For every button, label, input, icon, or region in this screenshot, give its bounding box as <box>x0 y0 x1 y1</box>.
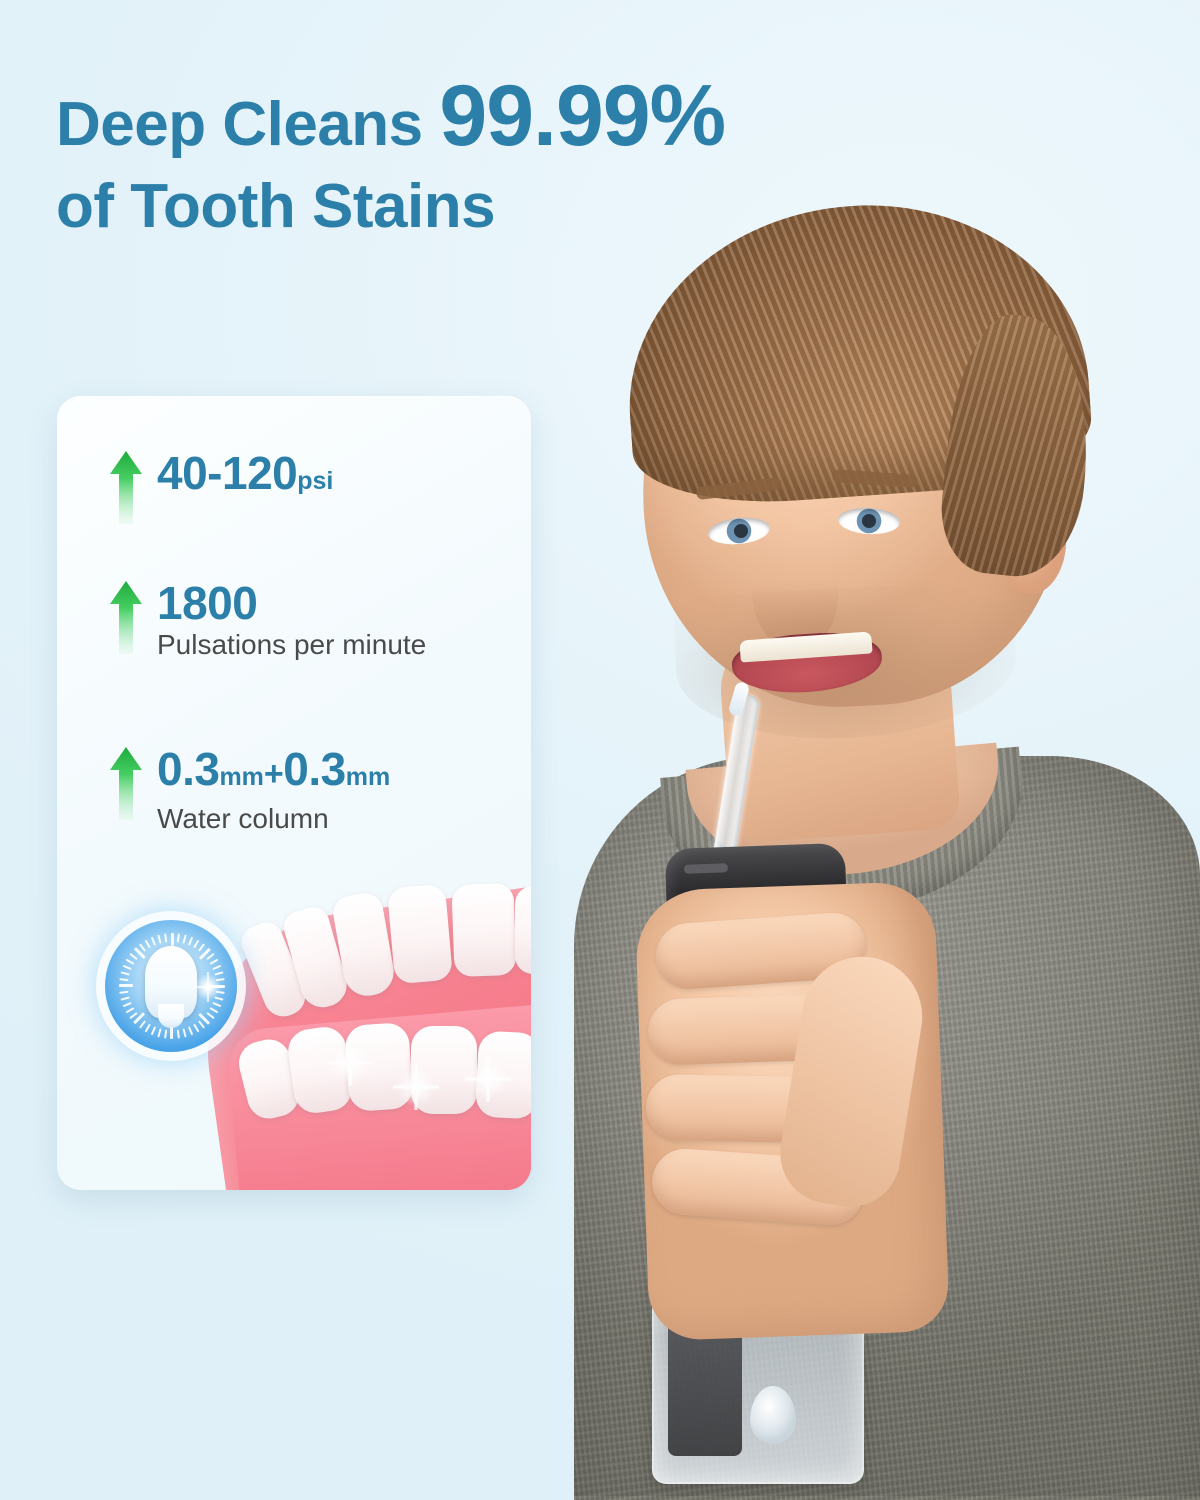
spec-row-pressure: 40-120psi <box>109 448 333 522</box>
photo-man-using-water-flosser <box>556 196 1200 1500</box>
badge-tick <box>193 1024 199 1033</box>
badge-tick <box>164 1029 167 1038</box>
up-arrow-icon <box>109 450 143 524</box>
tooth <box>475 1030 531 1119</box>
spec-value-b: 0.3 <box>283 743 345 795</box>
spec-caption: Water column <box>157 803 329 834</box>
headline-highlight: 99.99% <box>439 68 725 164</box>
spec-unit-a: mm <box>219 763 263 791</box>
badge-tick <box>177 933 180 942</box>
promo-image: Deep Cleans 99.99% of Tooth Stains 40-12… <box>0 0 1200 1500</box>
badge-tick <box>164 933 167 942</box>
spec-row-water-column: 0.3mm+0.3mm Water column <box>109 744 531 836</box>
badge-tick <box>206 1012 214 1019</box>
badge-tick <box>126 959 135 965</box>
spec-separator: + <box>264 755 283 793</box>
pupil-left <box>734 524 748 538</box>
badge-tick <box>177 1029 180 1038</box>
badge-tick <box>151 1026 156 1035</box>
spec-unit: psi <box>297 467 333 495</box>
badge-tick <box>198 943 205 951</box>
badge-tick <box>129 953 137 960</box>
badge-tick <box>171 933 174 947</box>
tooth <box>515 886 531 974</box>
headline-line-2: of Tooth Stains <box>56 175 956 239</box>
badge-tick <box>145 940 151 949</box>
badge-tick <box>119 984 133 987</box>
up-arrow-icon <box>109 580 143 654</box>
pupil-right <box>862 514 876 528</box>
flosser-power-button <box>684 863 728 874</box>
badge-tick <box>139 1020 146 1028</box>
badge-tick <box>210 1007 219 1013</box>
spec-row-pulsations: 1800 Pulsations per minute <box>109 578 531 662</box>
badge-tick <box>188 1026 193 1035</box>
spec-value-line: 0.3mm+0.3mm <box>157 743 390 795</box>
badge-tick <box>210 959 219 965</box>
badge-tick <box>123 965 132 970</box>
badge-tick <box>145 1024 151 1033</box>
spec-value-a: 0.3 <box>157 743 219 795</box>
badge-tick <box>121 996 130 1000</box>
badge-tick <box>182 1028 186 1037</box>
tooth <box>451 883 516 977</box>
spec-card: 40-120psi 1800 Pulsations per minute 0.3… <box>57 396 531 1190</box>
badge-tick <box>157 935 161 944</box>
badge-tick <box>157 1028 161 1037</box>
whitening-tooth-badge-icon <box>105 920 237 1052</box>
spec-text-pulsations: 1800 Pulsations per minute <box>157 578 531 662</box>
spec-value: 40-120 <box>157 447 297 499</box>
tooth <box>411 1026 477 1114</box>
tooth <box>387 884 453 985</box>
tooth <box>344 1022 414 1112</box>
spec-text-pressure: 40-120psi <box>157 448 333 506</box>
badge-tick <box>119 978 128 981</box>
spec-value: 1800 <box>157 577 257 629</box>
badge-tick <box>182 935 186 944</box>
spec-text-water-column: 0.3mm+0.3mm Water column <box>157 744 531 836</box>
badge-tick <box>212 1002 221 1007</box>
badge-tick <box>126 1007 135 1013</box>
spec-value-line: 40-120psi <box>157 447 333 499</box>
badge-tick <box>206 953 214 960</box>
headline-line-1: Deep Cleans 99.99% <box>56 72 956 161</box>
up-arrow-icon <box>109 746 143 820</box>
badge-tick <box>119 991 128 994</box>
spec-unit-b: mm <box>346 763 390 791</box>
teeth-and-gums-illustration <box>57 864 531 1190</box>
badge-tick <box>123 1002 132 1007</box>
badge-tooth-shape <box>145 946 197 1018</box>
sparkle-icon <box>193 972 223 1002</box>
badge-tick <box>121 971 130 975</box>
badge-tick <box>151 937 156 946</box>
badge-tick <box>212 965 221 970</box>
spec-caption: Pulsations per minute <box>157 629 426 660</box>
headline: Deep Cleans 99.99% of Tooth Stains <box>56 72 956 240</box>
badge-tick <box>188 937 193 946</box>
headline-lead: Deep Cleans <box>56 90 439 159</box>
badge-tick <box>193 940 199 949</box>
